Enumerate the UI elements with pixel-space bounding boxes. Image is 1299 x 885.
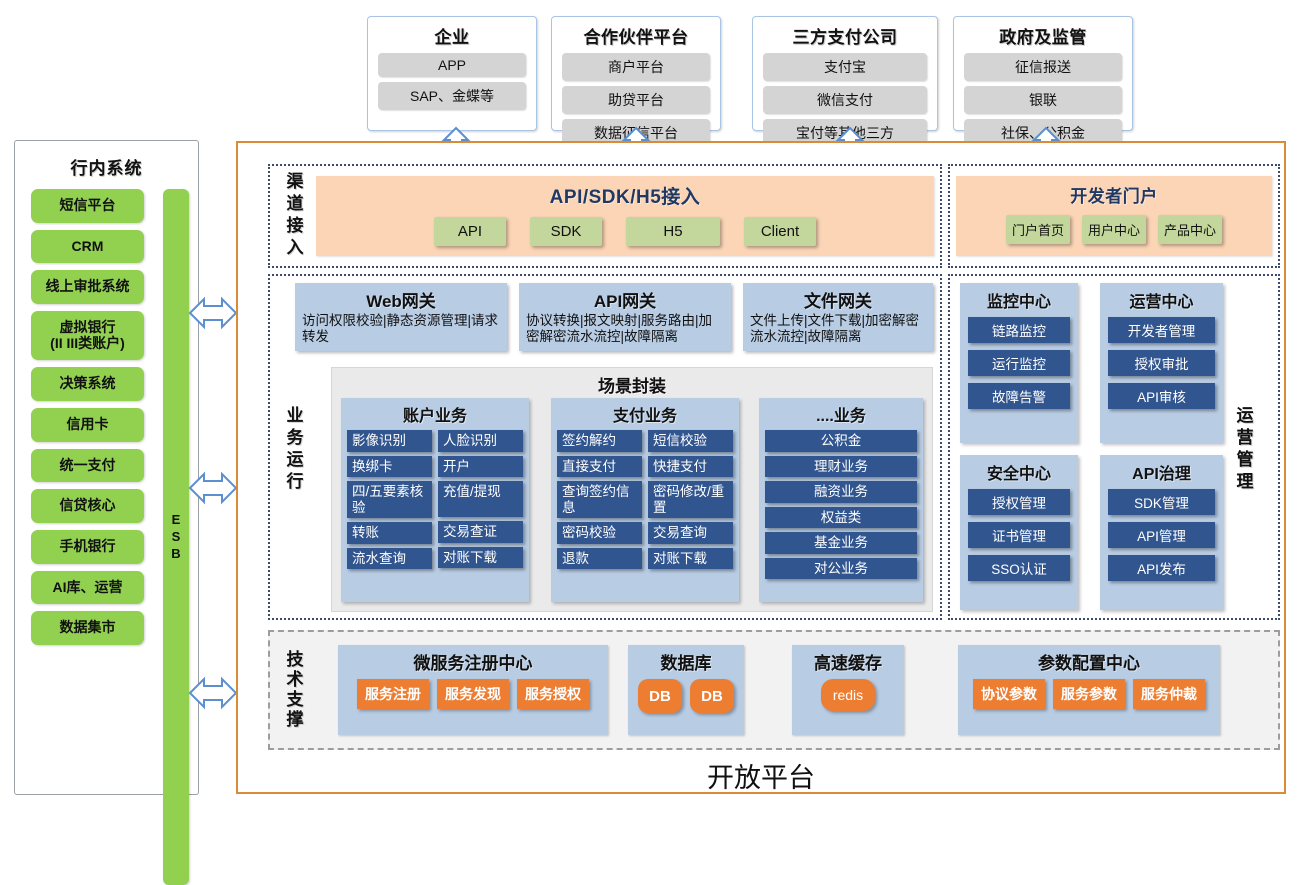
tech-item[interactable]: 服务仲裁 (1133, 679, 1205, 709)
actor-card-government-regulator[interactable]: 政府及监管 征信报送 银联 社保、公积金 (953, 16, 1133, 131)
business-group-column-left: 影像识别 换绑卡 四/五要素核验 转账 流水查询 (347, 430, 432, 569)
business-item[interactable]: 退款 (557, 548, 642, 570)
business-run-label: 业务运行 (276, 390, 310, 510)
ops-item[interactable]: 授权审批 (1108, 350, 1215, 376)
business-item[interactable]: 密码校验 (557, 522, 642, 544)
gateway-desc: 访问权限校验|静态资源管理|请求转发 (302, 313, 500, 345)
gateway-file[interactable]: 文件网关 文件上传|文件下载|加密解密流水流控|故障隔离 (743, 283, 933, 351)
db-icon[interactable]: DB (690, 679, 734, 713)
tile-product-center[interactable]: 产品中心 (1158, 215, 1222, 244)
tile-user-center[interactable]: 用户中心 (1082, 215, 1146, 244)
architecture-diagram: 企业 APP SAP、金蝶等 合作伙伴平台 商户平台 助贷平台 数据征信平台 三… (0, 0, 1299, 799)
actor-item[interactable]: APP (378, 53, 526, 77)
actor-item[interactable]: 商户平台 (562, 53, 710, 81)
business-item[interactable]: 影像识别 (347, 430, 432, 452)
ops-card-api-governance: API治理 SDK管理 API管理 API发布 (1100, 455, 1223, 610)
business-item[interactable]: 签约解约 (557, 430, 642, 452)
ops-item[interactable]: 开发者管理 (1108, 317, 1215, 343)
gateway-desc: 文件上传|文件下载|加密解密流水流控|故障隔离 (750, 313, 926, 345)
gateway-title: Web网关 (302, 287, 500, 312)
ops-card-title: 安全中心 (968, 460, 1070, 484)
list-item[interactable]: 信贷核心 (31, 489, 144, 523)
tech-card-title: 微服务注册中心 (346, 649, 600, 674)
tech-item[interactable]: 服务注册 (357, 679, 429, 709)
actor-card-third-party-payment[interactable]: 三方支付公司 支付宝 微信支付 宝付等其他三方 (752, 16, 938, 131)
internal-systems-panel: 行内系统 短信平台 CRM 线上审批系统 虚拟银行 (II III类账户) 决策… (14, 140, 199, 795)
actor-title: 政府及监管 (999, 23, 1087, 48)
ops-item[interactable]: SSO认证 (968, 555, 1070, 581)
actor-item[interactable]: 助贷平台 (562, 86, 710, 114)
actor-item[interactable]: 银联 (964, 86, 1122, 114)
actor-item[interactable]: SAP、金蝶等 (378, 82, 526, 110)
arrow-left-right-channel (190, 295, 236, 331)
business-item[interactable]: 四/五要素核验 (347, 481, 432, 518)
developer-portal-title: 开发者门户 (956, 176, 1272, 207)
actor-item[interactable]: 支付宝 (763, 53, 927, 81)
business-group-title: 支付业务 (557, 402, 733, 426)
ops-card-operations-center: 运营中心 开发者管理 授权审批 API审核 (1100, 283, 1223, 443)
ops-item[interactable]: SDK管理 (1108, 489, 1215, 515)
api-access-title: API/SDK/H5接入 (316, 176, 934, 209)
gateway-web[interactable]: Web网关 访问权限校验|静态资源管理|请求转发 (295, 283, 507, 351)
actor-item[interactable]: 微信支付 (763, 86, 927, 114)
tech-card-parameter-config: 参数配置中心 协议参数 服务参数 服务仲裁 (958, 645, 1220, 735)
internal-systems-title: 行内系统 (15, 141, 198, 179)
business-item[interactable]: 对公业务 (765, 558, 917, 580)
ops-item[interactable]: 链路监控 (968, 317, 1070, 343)
ops-item[interactable]: API发布 (1108, 555, 1215, 581)
business-item[interactable]: 交易查询 (648, 522, 733, 544)
business-item[interactable]: 公积金 (765, 430, 917, 452)
business-item[interactable]: 查询签约信息 (557, 481, 642, 518)
business-item[interactable]: 融资业务 (765, 481, 917, 503)
arrow-left-right-business (190, 470, 236, 506)
list-item[interactable]: 数据集市 (31, 611, 144, 645)
api-access-band: API/SDK/H5接入 API SDK H5 Client (316, 176, 934, 256)
list-item[interactable]: 虚拟银行 (II III类账户) (31, 311, 144, 360)
business-group-column-right: 短信校验 快捷支付 密码修改/重置 交易查询 对账下载 (648, 430, 733, 569)
business-item[interactable]: 转账 (347, 522, 432, 544)
business-group-column-right: 人脸识别 开户 充值/提现 交易查证 对账下载 (438, 430, 523, 569)
tech-card-title: 参数配置中心 (966, 649, 1212, 674)
tech-item[interactable]: 服务授权 (517, 679, 589, 709)
ops-card-title: API治理 (1108, 460, 1215, 484)
esb-bus: ESB (163, 189, 189, 885)
business-group-account: 账户业务 影像识别 换绑卡 四/五要素核验 转账 流水查询 人脸识别 开户 充值… (341, 398, 529, 602)
list-item[interactable]: 决策系统 (31, 367, 144, 401)
list-item[interactable]: 信用卡 (31, 408, 144, 442)
db-icon[interactable]: DB (638, 679, 682, 713)
internal-systems-list: 短信平台 CRM 线上审批系统 虚拟银行 (II III类账户) 决策系统 信用… (31, 189, 144, 645)
business-group-other: ....业务 公积金 理财业务 融资业务 权益类 基金业务 对公业务 (759, 398, 923, 602)
gateway-title: API网关 (526, 287, 724, 312)
business-group-column-left: 签约解约 直接支付 查询签约信息 密码校验 退款 (557, 430, 642, 569)
ops-card-monitoring-center: 监控中心 链路监控 运行监控 故障告警 (960, 283, 1078, 443)
actor-title: 企业 (435, 23, 470, 48)
tech-card-title: 数据库 (636, 649, 736, 674)
business-item[interactable]: 快捷支付 (648, 456, 733, 478)
list-item[interactable]: 手机银行 (31, 530, 144, 564)
actor-card-partner-platform[interactable]: 合作伙伴平台 商户平台 助贷平台 数据征信平台 (551, 16, 721, 131)
operations-management-label: 运营管理 (1226, 390, 1260, 510)
tile-sdk[interactable]: SDK (530, 217, 602, 246)
ops-item[interactable]: 授权管理 (968, 489, 1070, 515)
business-item[interactable]: 权益类 (765, 507, 917, 529)
ops-item[interactable]: API管理 (1108, 522, 1215, 548)
tech-item[interactable]: 服务参数 (1053, 679, 1125, 709)
esb-label: ESB (169, 512, 184, 563)
business-item[interactable]: 直接支付 (557, 456, 642, 478)
actor-card-enterprise[interactable]: 企业 APP SAP、金蝶等 (367, 16, 537, 131)
ops-item[interactable]: 故障告警 (968, 383, 1070, 409)
business-item[interactable]: 理财业务 (765, 456, 917, 478)
tech-card-cache: 高速缓存 redis (792, 645, 904, 735)
business-item[interactable]: 交易查证 (438, 521, 523, 543)
list-item[interactable]: 线上审批系统 (31, 270, 144, 304)
list-item[interactable]: 统一支付 (31, 449, 144, 483)
ops-item[interactable]: 证书管理 (968, 522, 1070, 548)
business-item[interactable]: 短信校验 (648, 430, 733, 452)
tech-card-microservice-registry: 微服务注册中心 服务注册 服务发现 服务授权 (338, 645, 608, 735)
business-group-payment: 支付业务 签约解约 直接支付 查询签约信息 密码校验 退款 短信校验 快捷支付 … (551, 398, 739, 602)
actor-title: 三方支付公司 (793, 23, 898, 48)
business-item[interactable]: 人脸识别 (438, 430, 523, 452)
business-item[interactable]: 对账下载 (648, 548, 733, 570)
tile-api[interactable]: API (434, 217, 506, 246)
ops-card-title: 监控中心 (968, 288, 1070, 312)
business-group-title: 账户业务 (347, 402, 523, 426)
tile-client[interactable]: Client (744, 217, 816, 246)
business-item[interactable]: 对账下载 (438, 547, 523, 569)
developer-portal-band: 开发者门户 门户首页 用户中心 产品中心 (956, 176, 1272, 256)
platform-caption: 开放平台 (236, 756, 1286, 795)
tile-h5[interactable]: H5 (626, 217, 720, 246)
channel-access-label: 渠道接入 (276, 168, 310, 264)
tile-portal-home[interactable]: 门户首页 (1006, 215, 1070, 244)
ops-item[interactable]: 运行监控 (968, 350, 1070, 376)
list-item[interactable]: AI库、运营 (31, 571, 144, 605)
business-item[interactable]: 流水查询 (347, 548, 432, 570)
business-item[interactable]: 基金业务 (765, 532, 917, 554)
business-item[interactable]: 开户 (438, 456, 523, 478)
redis-icon[interactable]: redis (821, 679, 875, 711)
gateway-title: 文件网关 (750, 287, 926, 312)
actor-item[interactable]: 征信报送 (964, 53, 1122, 81)
business-group-title: ....业务 (765, 402, 917, 426)
list-item[interactable]: 短信平台 (31, 189, 144, 223)
ops-card-title: 运营中心 (1108, 288, 1215, 312)
arrow-left-right-tech (190, 675, 236, 711)
ops-item[interactable]: API审核 (1108, 383, 1215, 409)
tech-card-database: 数据库 DB DB (628, 645, 744, 735)
ops-card-security-center: 安全中心 授权管理 证书管理 SSO认证 (960, 455, 1078, 610)
actor-title: 合作伙伴平台 (584, 23, 689, 48)
business-group-column-left: 公积金 理财业务 融资业务 权益类 基金业务 对公业务 (765, 430, 917, 579)
gateway-desc: 协议转换|报文映射|服务路由|加密解密流水流控|故障隔离 (526, 313, 724, 345)
business-item[interactable]: 充值/提现 (438, 481, 523, 517)
scenario-title: 场景封装 (332, 368, 932, 397)
business-item[interactable]: 密码修改/重置 (648, 481, 733, 518)
tech-support-label: 技术支撑 (276, 638, 310, 742)
tech-item[interactable]: 协议参数 (973, 679, 1045, 709)
tech-item[interactable]: 服务发现 (437, 679, 509, 709)
business-item[interactable]: 换绑卡 (347, 456, 432, 478)
tech-card-title: 高速缓存 (800, 649, 896, 674)
gateway-api[interactable]: API网关 协议转换|报文映射|服务路由|加密解密流水流控|故障隔离 (519, 283, 731, 351)
list-item[interactable]: CRM (31, 230, 144, 264)
